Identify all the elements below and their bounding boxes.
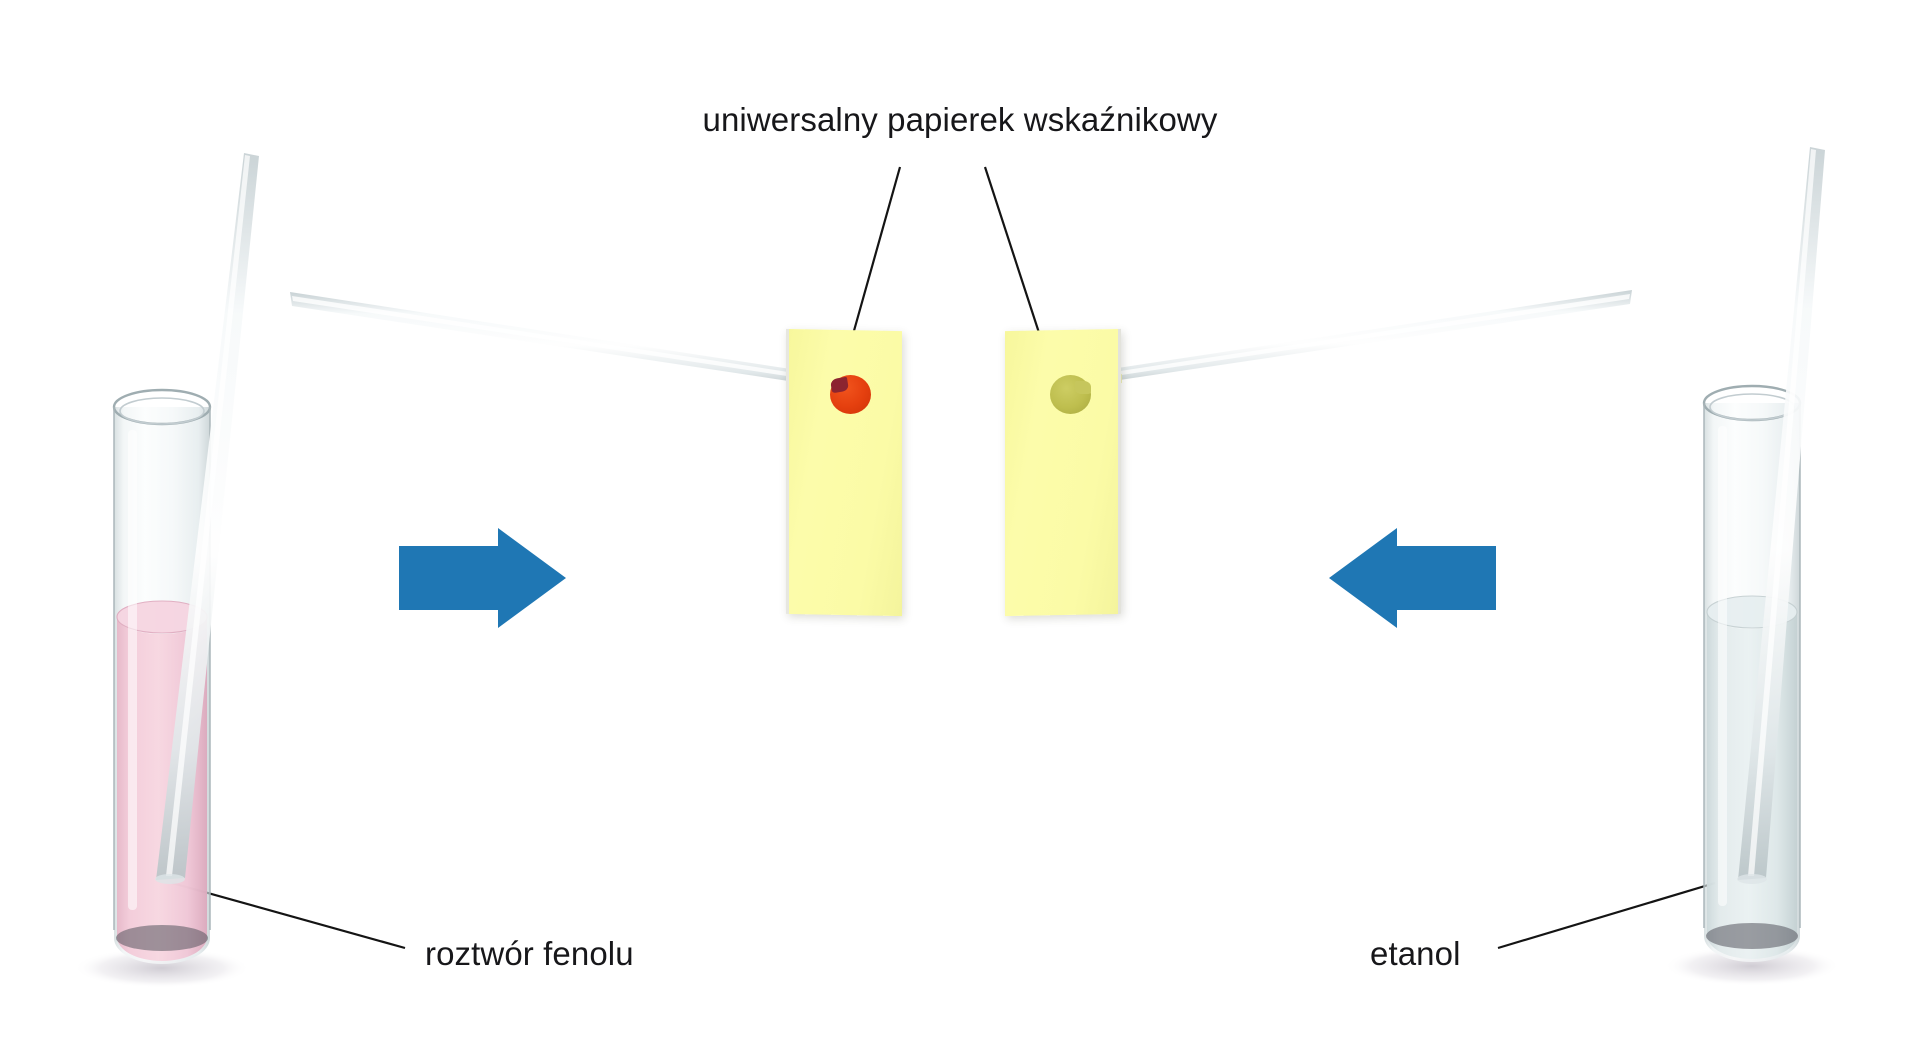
tube-left-highlight [128,430,137,910]
tube-left-base-ellipse [116,925,208,951]
applicator-rod-right-highlight [1067,294,1630,383]
arrow-right-to-paper[interactable] [1329,528,1496,628]
figure-canvas: uniwersalny papierek wskaźnikowy roztwór… [0,0,1920,1044]
arrow-left-to-paper[interactable] [399,528,566,628]
applicator-rod-left-highlight [292,296,847,385]
phenol-solution-label: roztwór fenolu [425,935,634,973]
indicator-paper-left[interactable] [786,329,902,616]
applicator-rod-right[interactable] [1062,290,1632,392]
stirring-rod-right-tip [1737,874,1767,884]
stirring-rod-left-tip [155,874,185,884]
tube-right-highlight [1718,426,1727,906]
arrow-right-pointing-shape [399,528,566,628]
arrow-left-pointing-shape [1329,528,1496,628]
indicator-spot-neutral [1050,375,1091,414]
illustration-svg [0,0,1920,1044]
leader-line-ethanol [1498,883,1715,948]
ethanol-label: etanol [1370,935,1461,973]
applicator-rod-left[interactable] [290,292,850,394]
indicator-paper-right[interactable] [1005,329,1121,616]
indicator-spot-acidic [830,375,871,414]
leader-line-paper-right [985,167,1043,345]
tube-right-base-ellipse [1706,923,1798,949]
indicator-paper-label: uniwersalny papierek wskaźnikowy [703,101,1218,139]
leader-line-paper-left [850,167,900,345]
